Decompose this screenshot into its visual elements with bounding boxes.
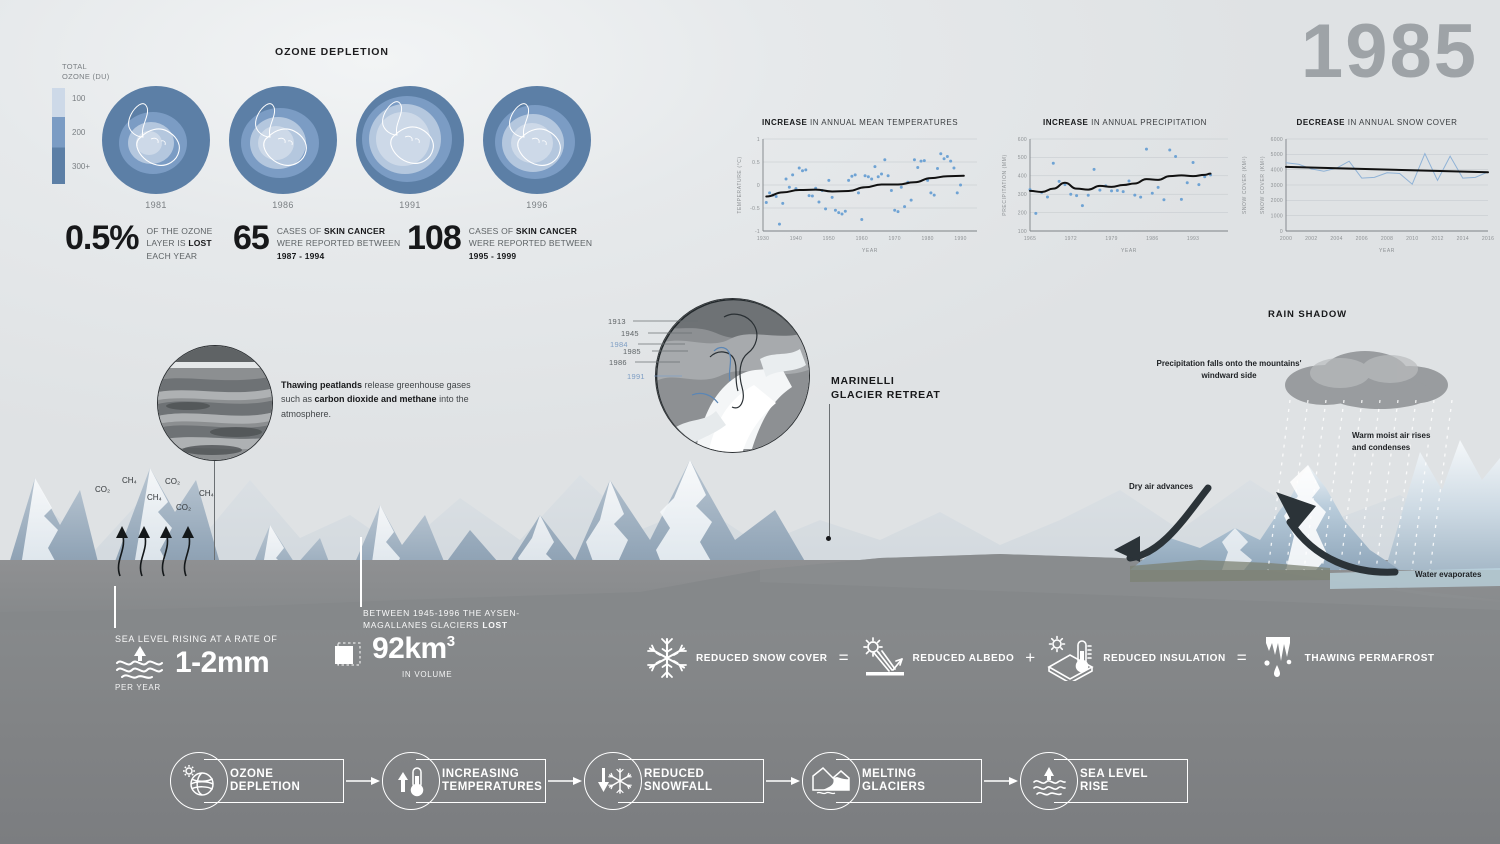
stat-65-l1: CASES OF [277,226,324,236]
snowflake-icon [645,636,689,680]
svg-text:1965: 1965 [1024,236,1036,242]
svg-text:SNOW COVER (KM²): SNOW COVER (KM²) [1242,156,1248,214]
ozone-legend-tick-100: 100 [72,94,85,103]
stat-glacier-volume-caption: BETWEEN 1945-1996 THE AYSEN- MAGALLANES … [363,608,520,632]
ozone-map-year-1996: 1996 [482,200,592,210]
glacier-volume-leader-line [360,537,362,607]
svg-text:2002: 2002 [1305,236,1317,242]
svg-text:-0.5: -0.5 [750,206,760,212]
eq-label-reduced-insulation: REDUCED INSULATION [1103,653,1226,664]
svg-text:6000: 6000 [1271,137,1283,143]
svg-text:1972: 1972 [1065,236,1077,242]
marinelli-year-1913: 1913 [608,317,626,326]
flow-circle-ozone [170,752,228,810]
svg-text:4000: 4000 [1271,167,1283,173]
svg-text:100: 100 [1018,229,1027,235]
stat-108-l3: 1995 - 1999 [469,251,517,261]
stat-sea-level-value: 1-2mm [175,647,269,679]
svg-text:YEAR: YEAR [862,248,878,253]
ozone-map-1986 [228,85,338,195]
gas-label-ch4-3: CH₄ [199,489,214,498]
marinelli-label-l2: GLACIER RETREAT [831,389,940,401]
svg-text:TEMPERATURE (°C): TEMPERATURE (°C) [737,156,743,213]
svg-text:SNOW COVER (KM²): SNOW COVER (KM²) [1260,156,1266,214]
ozone-map-year-1986: 1986 [228,200,338,210]
stat-ozone-loss-l2b: LOST [188,238,211,248]
svg-text:2016: 2016 [1482,236,1494,242]
eq-label-reduced-albedo: REDUCED ALBEDO [913,653,1015,664]
eq-operator-plus: + [1021,648,1039,668]
svg-text:2014: 2014 [1457,236,1469,242]
stat-65-l2: WERE REPORTED BETWEEN [277,238,401,248]
stat-ozone-loss-l1: OF THE OZONE [147,226,213,236]
svg-text:1990: 1990 [954,236,966,242]
sea-level-icon [1031,765,1067,797]
snow-down-icon [594,764,632,798]
marinelli-year-1991: 1991 [627,372,645,381]
svg-text:500: 500 [1018,155,1027,161]
flow-step-sea-level-rise[interactable]: SEA LEVEL RISE [1020,752,1188,810]
svg-text:0: 0 [757,183,760,189]
chart-snow-cover-title: DECREASE IN ANNUAL SNOW COVER [1258,118,1496,127]
ozone-map-1981 [101,85,211,195]
svg-text:400: 400 [1018,174,1027,180]
flow-step-reduced-snowfall[interactable]: REDUCED SNOWFALL [584,752,802,810]
ozone-map-1991 [355,85,465,195]
stat-108-l1: CASES OF [469,226,516,236]
svg-text:600: 600 [1018,137,1027,143]
stat-ozone-loss-text: OF THE OZONE LAYER IS LOST EACH YEAR [147,222,213,262]
rs-warm-l1: Warm moist air rises [1352,431,1430,440]
melting-icicles-icon [1258,635,1298,681]
ozone-map-year-1981: 1981 [101,200,211,210]
svg-text:1000: 1000 [1271,213,1283,219]
svg-text:2012: 2012 [1431,236,1443,242]
chart-temperature-title-rest: IN ANNUAL MEAN TEMPERATURES [807,118,958,127]
sea-level-leader-line [114,586,116,628]
stat-ozone-loss: 0.5% OF THE OZONE LAYER IS LOST EACH YEA… [65,222,213,262]
svg-text:1930: 1930 [757,236,769,242]
ozone-legend-tick-200: 200 [72,128,85,137]
stat-sea-level: SEA LEVEL RISING AT A RATE OF 1-2mm PER … [115,634,278,692]
stat-skin-cancer-108: 108 CASES OF SKIN CANCER WERE REPORTED B… [407,222,592,262]
stat-108-l1b: SKIN CANCER [516,226,577,236]
stat-skin-cancer-108-number: 108 [407,222,461,254]
stat-skin-cancer-65: 65 CASES OF SKIN CANCER WERE REPORTED BE… [233,222,400,262]
svg-text:PRECIPITATION (MM): PRECIPITATION (MM) [1002,154,1008,215]
ozone-map-1996 [482,85,592,195]
gas-label-ch4-2: CH₄ [147,493,162,502]
flow-circle-temperature [382,752,440,810]
stat-sea-level-sub: PER YEAR [115,683,278,692]
thermometer-up-icon [394,764,428,798]
glacier-cap-l2b: LOST [482,620,507,630]
stat-glacier-volume-sub: IN VOLUME [402,670,520,679]
marinelli-label: MARINELLI GLACIER RETREAT [831,374,940,402]
svg-text:0: 0 [1280,229,1283,235]
svg-text:-1: -1 [755,229,760,235]
marinelli-year-1986: 1986 [609,358,627,367]
albedo-equation-row: REDUCED SNOW COVER = REDUCED ALBEDO + [645,630,1435,686]
glacier-cap-l2: MAGALLANES GLACIERS [363,620,482,630]
marinelli-leader-dot [826,536,831,541]
chart-precipitation-plot: 10020030040050060019651972197919861993YE… [1000,131,1250,253]
rain-shadow-note-evaporation: Water evaporates [1415,569,1481,581]
rs-warm-l2: and condenses [1352,443,1410,452]
eq-label-thawing-permafrost: THAWING PERMAFROST [1305,653,1435,664]
stat-ozone-loss-number: 0.5% [65,222,139,254]
flow-circle-snowfall [584,752,642,810]
svg-text:YEAR: YEAR [1379,248,1395,253]
stat-skin-cancer-65-number: 65 [233,222,269,254]
peatlands-callout-text: Thawing peatlands release greenhouse gas… [281,378,481,421]
chart-temperature-plot: -1-0.500.511930194019501960197019801990Y… [735,131,985,253]
stat-65-l1b: SKIN CANCER [324,226,385,236]
stat-skin-cancer-108-text: CASES OF SKIN CANCER WERE REPORTED BETWE… [469,222,593,262]
svg-text:1960: 1960 [856,236,868,242]
svg-text:3000: 3000 [1271,183,1283,189]
stat-ozone-loss-l2: LAYER IS [147,238,189,248]
chart-temperature-title-bold: INCREASE [762,118,807,127]
flow-arrow-3 [766,775,800,787]
svg-text:YEAR: YEAR [1121,248,1137,253]
infographic-canvas: OZONE DEPLETION TOTAL OZONE (DU) 100 200… [0,0,1500,844]
stat-sea-level-caption: SEA LEVEL RISING AT A RATE OF [115,634,278,644]
eq-operator-equals-1: = [835,648,853,668]
rs-windward-l2: windward side [1201,371,1256,380]
flow-circle-sea-level [1020,752,1078,810]
chart-snow-cover: DECREASE IN ANNUAL SNOW COVER 0100020003… [1258,118,1496,258]
svg-text:2004: 2004 [1330,236,1342,242]
svg-text:2006: 2006 [1356,236,1368,242]
rs-windward-l1: Precipitation falls onto the mountains' [1156,359,1301,368]
marinelli-leader-vertical [829,404,830,539]
svg-text:5000: 5000 [1271,152,1283,158]
marinelli-glacier-photo [655,298,810,453]
rain-shadow-note-warm-air: Warm moist air rises and condenses [1352,430,1430,453]
chart-precipitation-title: INCREASE IN ANNUAL PRECIPITATION [1000,118,1250,127]
svg-text:1970: 1970 [889,236,901,242]
glacier-melt-icon [811,766,851,796]
rain-shadow-note-dry-air: Dry air advances [1129,481,1193,493]
svg-text:2008: 2008 [1381,236,1393,242]
svg-text:2010: 2010 [1406,236,1418,242]
flow-step-ozone-depletion[interactable]: OZONE DEPLETION [170,752,382,810]
eq-label-reduced-snow-cover: REDUCED SNOW COVER [696,653,828,664]
flow-arrow-1 [346,775,380,787]
svg-text:0.5: 0.5 [752,160,760,166]
chart-precipitation-title-rest: IN ANNUAL PRECIPITATION [1088,118,1207,127]
chart-snow-cover-plot: 0100020003000400050006000200020022004200… [1258,131,1496,253]
svg-text:1979: 1979 [1105,236,1117,242]
ozone-legend: TOTAL OZONE (DU) 100 200 300+ [62,62,122,82]
svg-text:1993: 1993 [1187,236,1199,242]
sun-reflection-icon [860,636,906,680]
chart-precipitation: INCREASE IN ANNUAL PRECIPITATION 1002003… [1000,118,1250,258]
ozone-legend-title-line2: OZONE (DU) [62,72,110,81]
flow-arrow-4 [984,775,1018,787]
svg-text:300: 300 [1018,192,1027,198]
causal-flow-chain: OZONE DEPLETION INCREASING TEMPERATURES [170,750,1188,812]
stat-glacier-volume-exponent: 3 [447,634,455,649]
svg-text:1: 1 [757,137,760,143]
marinelli-label-l1: MARINELLI [831,375,894,387]
svg-text:1980: 1980 [921,236,933,242]
flow-arrow-2 [548,775,582,787]
sea-level-rise-icon [115,646,165,680]
ozone-legend-title-line1: TOTAL [62,62,87,71]
flow-circle-glacier [802,752,860,810]
rain-shadow-title: RAIN SHADOW [1268,309,1347,320]
svg-text:2000: 2000 [1280,236,1292,242]
flow-step-increasing-temperatures[interactable]: INCREASING TEMPERATURES [382,752,584,810]
ozone-legend-gradient-bar [52,88,65,184]
peatlands-photo [157,345,273,461]
marinelli-year-1985: 1985 [623,347,641,356]
ozone-legend-tick-300: 300+ [72,162,90,171]
gas-label-ch4-1: CH₄ [122,476,137,485]
peatlands-leader-line [214,461,215,560]
chart-snow-cover-title-rest: IN ANNUAL SNOW COVER [1345,118,1457,127]
ozone-section-title: OZONE DEPLETION [275,46,389,58]
stat-skin-cancer-65-text: CASES OF SKIN CANCER WERE REPORTED BETWE… [277,222,401,262]
gas-label-co2-2: CO₂ [165,477,180,486]
stat-65-l3: 1987 - 1994 [277,251,325,261]
svg-text:200: 200 [1018,210,1027,216]
stat-ozone-loss-l3: EACH YEAR [147,251,198,261]
svg-text:1986: 1986 [1146,236,1158,242]
gas-label-co2-3: CO₂ [176,503,191,512]
chart-temperature: INCREASE IN ANNUAL MEAN TEMPERATURES -1-… [735,118,985,258]
marinelli-year-1945: 1945 [621,329,639,338]
gas-label-co2-1: CO₂ [95,485,110,494]
stat-108-l2: WERE REPORTED BETWEEN [469,238,593,248]
svg-text:1940: 1940 [790,236,802,242]
peatlands-bold-2: carbon dioxide and methane [315,394,437,404]
svg-text:2000: 2000 [1271,198,1283,204]
volume-cube-icon [333,637,363,669]
ozone-globe-icon [182,764,216,798]
peatlands-bold-1: Thawing peatlands [281,380,362,390]
stat-glacier-volume-value: 92km [372,633,447,665]
eq-operator-equals-2: = [1233,648,1251,668]
chart-precipitation-title-bold: INCREASE [1043,118,1088,127]
rain-shadow-note-windward: Precipitation falls onto the mountains' … [1119,358,1339,381]
glacier-cap-l1: BETWEEN 1945-1996 THE AYSEN- [363,608,520,618]
chart-snow-cover-title-bold: DECREASE [1297,118,1345,127]
stat-glacier-volume: BETWEEN 1945-1996 THE AYSEN- MAGALLANES … [363,608,520,679]
ozone-map-year-1991: 1991 [355,200,465,210]
flow-step-melting-glaciers[interactable]: MELTING GLACIERS [802,752,1020,810]
year-badge: 1985 [1301,14,1478,90]
svg-text:1950: 1950 [823,236,835,242]
sun-thermometer-ground-icon [1046,635,1096,681]
chart-temperature-title: INCREASE IN ANNUAL MEAN TEMPERATURES [735,118,985,127]
